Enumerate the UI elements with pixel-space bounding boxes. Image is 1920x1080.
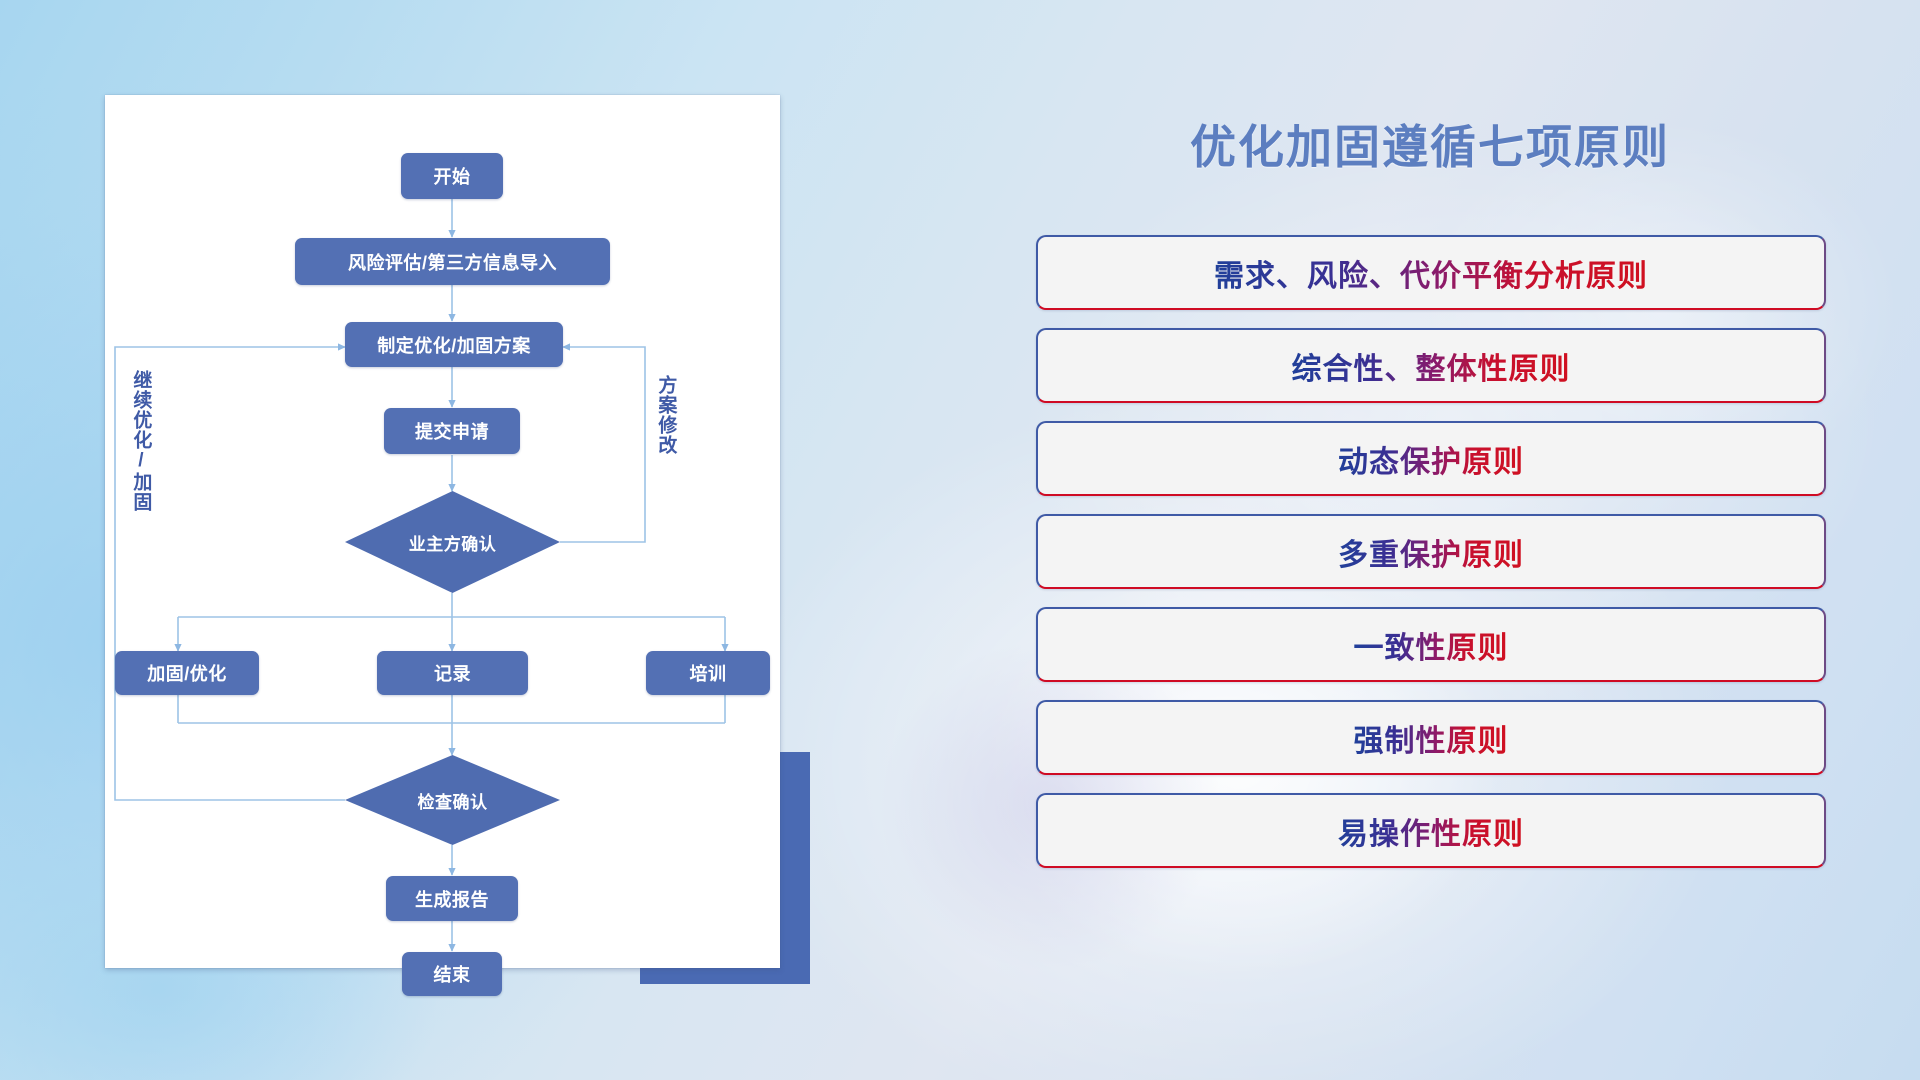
principle-card-3[interactable]: 动态保护原则 bbox=[1036, 421, 1826, 496]
flow-node-start[interactable]: 开始 bbox=[401, 153, 503, 199]
flow-node-owner-confirm[interactable]: 业主方确认 bbox=[345, 491, 560, 593]
flow-node-plan[interactable]: 制定优化/加固方案 bbox=[345, 322, 563, 367]
principles-panel: 优化加固遵循七项原则 需求、风险、代价平衡分析原则 综合性、整体性原则 动态保护… bbox=[1020, 95, 1840, 995]
flow-node-end[interactable]: 结束 bbox=[402, 952, 502, 996]
principle-card-5[interactable]: 一致性原则 bbox=[1036, 607, 1826, 682]
flow-node-label: 检查确认 bbox=[418, 788, 488, 813]
flow-node-submit-application[interactable]: 提交申请 bbox=[384, 408, 520, 454]
principle-label: 需求、风险、代价平衡分析原则 bbox=[1214, 251, 1648, 295]
principles-list: 需求、风险、代价平衡分析原则 综合性、整体性原则 动态保护原则 多重保护原则 一… bbox=[1036, 235, 1826, 886]
page-title: 优化加固遵循七项原则 bbox=[1020, 111, 1840, 177]
flow-node-label: 记录 bbox=[434, 660, 471, 686]
flow-node-label: 开始 bbox=[434, 163, 471, 189]
principle-label: 强制性原则 bbox=[1354, 716, 1509, 760]
flow-node-label: 结束 bbox=[434, 961, 471, 987]
flow-node-record[interactable]: 记录 bbox=[377, 651, 528, 695]
principle-label: 综合性、整体性原则 bbox=[1292, 344, 1571, 388]
flow-node-training[interactable]: 培训 bbox=[646, 651, 770, 695]
flow-node-label: 制定优化/加固方案 bbox=[377, 332, 531, 358]
principle-card-1[interactable]: 需求、风险、代价平衡分析原则 bbox=[1036, 235, 1826, 310]
principle-label: 多重保护原则 bbox=[1338, 530, 1524, 574]
slide-canvas: 开始 风险评估/第三方信息导入 制定优化/加固方案 提交申请 业主方确认 加固/… bbox=[0, 0, 1920, 1080]
flow-node-reinforce[interactable]: 加固/优化 bbox=[115, 651, 259, 695]
flow-node-label: 业主方确认 bbox=[409, 530, 497, 555]
principle-card-4[interactable]: 多重保护原则 bbox=[1036, 514, 1826, 589]
flowchart-panel: 开始 风险评估/第三方信息导入 制定优化/加固方案 提交申请 业主方确认 加固/… bbox=[105, 95, 780, 968]
principle-card-2[interactable]: 综合性、整体性原则 bbox=[1036, 328, 1826, 403]
edge-label-continue-optimize: 继续优化/加固 bbox=[131, 370, 150, 512]
flow-node-label: 提交申请 bbox=[415, 418, 489, 444]
flow-node-risk-assessment[interactable]: 风险评估/第三方信息导入 bbox=[295, 238, 610, 285]
principle-label: 动态保护原则 bbox=[1338, 437, 1524, 481]
flow-node-label: 生成报告 bbox=[415, 886, 489, 912]
flow-node-inspection-confirm[interactable]: 检查确认 bbox=[345, 755, 560, 845]
edge-label-plan-revision: 方案修改 bbox=[656, 375, 675, 455]
flow-node-generate-report[interactable]: 生成报告 bbox=[386, 876, 518, 921]
principle-label: 易操作性原则 bbox=[1338, 809, 1524, 853]
flow-node-label: 培训 bbox=[690, 660, 727, 686]
flow-node-label: 风险评估/第三方信息导入 bbox=[348, 249, 557, 275]
principle-card-6[interactable]: 强制性原则 bbox=[1036, 700, 1826, 775]
principle-label: 一致性原则 bbox=[1354, 623, 1509, 667]
flow-node-label: 加固/优化 bbox=[147, 660, 227, 686]
principle-card-7[interactable]: 易操作性原则 bbox=[1036, 793, 1826, 868]
